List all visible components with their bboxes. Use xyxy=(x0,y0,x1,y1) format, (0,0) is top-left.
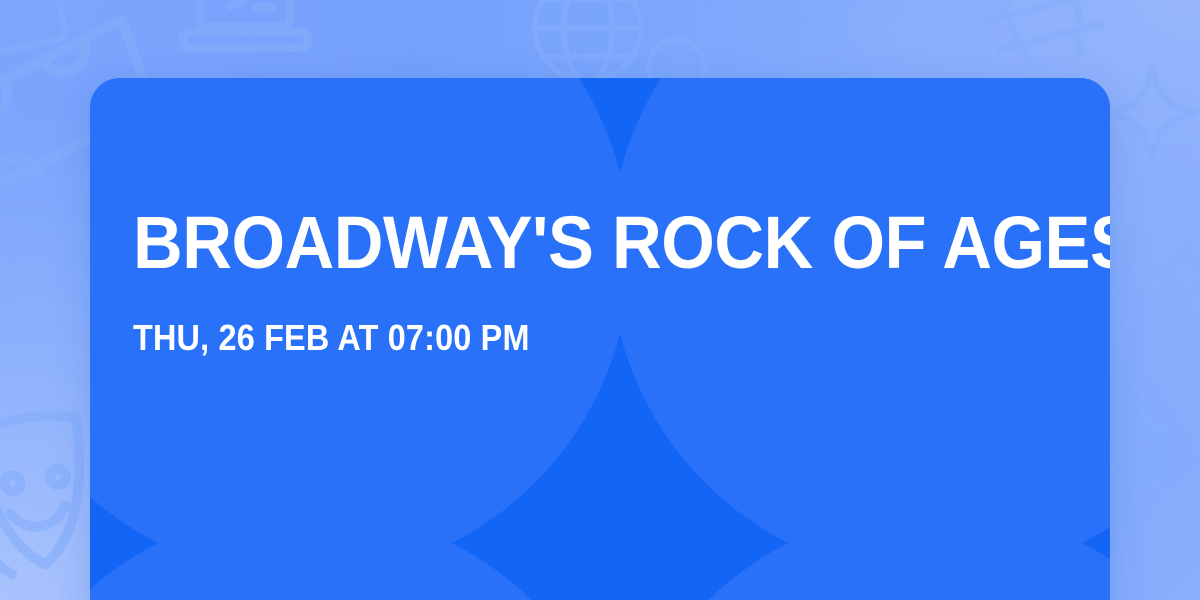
event-banner: Broadway's Rock of Ages Band Thu, 26 Feb… xyxy=(0,0,1200,600)
event-datetime: Thu, 26 Feb at 07:00 PM xyxy=(133,320,976,356)
bench-icon xyxy=(969,0,1122,90)
event-title: Broadway's Rock of Ages Band xyxy=(133,209,1004,277)
laptop-icon xyxy=(175,0,315,62)
calendar-icon xyxy=(0,0,80,69)
confetti-icon xyxy=(0,194,90,345)
event-card[interactable]: Broadway's Rock of Ages Band Thu, 26 Feb… xyxy=(90,78,1110,600)
sparkle-icon xyxy=(1104,58,1200,168)
sparkle-icon xyxy=(1148,232,1200,316)
globe-icon xyxy=(528,0,648,88)
card-content: Broadway's Rock of Ages Band Thu, 26 Feb… xyxy=(133,78,1070,600)
